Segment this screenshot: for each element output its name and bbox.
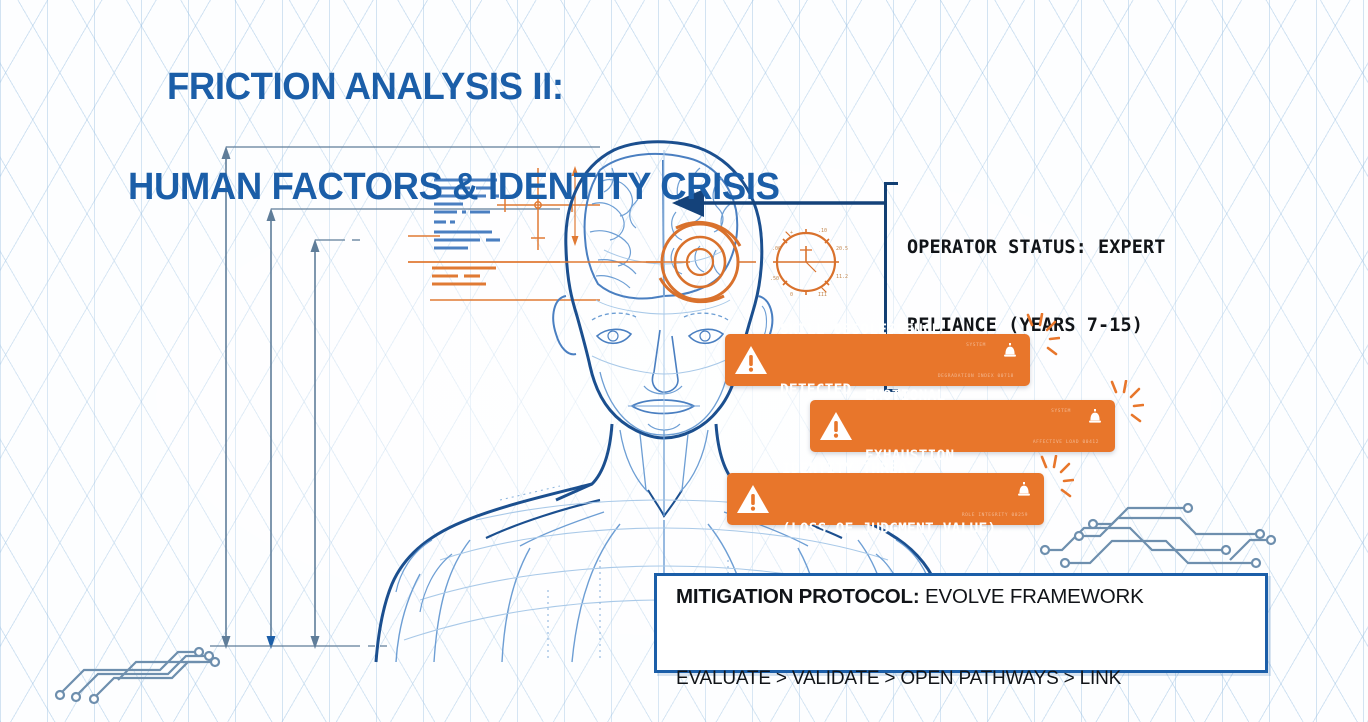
alert-microtext-bottom: AFFECTIVE LOAD 00412 (1033, 440, 1099, 445)
svg-text:20.5: 20.5 (836, 246, 848, 252)
alert-microtext-top: SYSTEM (966, 343, 986, 348)
mitigation-heading: MITIGATION PROTOCOL: EVOLVE FRAMEWORK (676, 585, 1265, 609)
title-line-1: FRICTION ANALYSIS II: (167, 66, 564, 108)
alert-spark-icon-3 (1028, 455, 1074, 507)
mitigation-protocol-box: MITIGATION PROTOCOL: EVOLVE FRAMEWORK EV… (654, 573, 1268, 673)
alert-line-1: EMOTIONAL (865, 386, 963, 406)
slide-canvas: +.10 20.511.2 .00.50 0III (0, 0, 1368, 722)
alert-spark-icon-1 (1014, 313, 1060, 365)
circuit-trace-left (56, 648, 219, 703)
alert-text: IDENTITY THREAT (LOSS OF JUDGMENT VALUE)… (782, 419, 1005, 579)
warning-triangle-icon (734, 344, 768, 376)
alert-banner-identity-threat[interactable]: IDENTITY THREAT (LOSS OF JUDGMENT VALUE)… (727, 473, 1044, 525)
circuit-trace-right (1041, 504, 1275, 567)
mitigation-label: MITIGATION PROTOCOL: (676, 585, 920, 608)
alert-microtext-bottom: ROLE INTEGRITY 00259 (962, 513, 1028, 518)
alert-spark-icon-2 (1098, 380, 1144, 432)
mitigation-steps-line-1: EVALUATE > VALIDATE > OPEN PATHWAYS > LI… (676, 666, 1265, 692)
svg-text:+: + (790, 230, 793, 236)
svg-text:.10: .10 (818, 228, 827, 234)
alert-line-1: SKILL OBSOLESCENCE (780, 320, 941, 340)
alert-line-2: (LOSS OF JUDGMENT VALUE). (782, 519, 1005, 539)
title-line-2: HUMAN FACTORS & IDENTITY CRISIS (128, 162, 780, 212)
mitigation-framework: EVOLVE FRAMEWORK (920, 585, 1144, 608)
operator-status-line-1: OPERATOR STATUS: EXPERT (907, 235, 1165, 261)
page-title: FRICTION ANALYSIS II: HUMAN FACTORS & ID… (128, 12, 780, 313)
warning-triangle-icon (736, 483, 770, 515)
alert-microtext-top: SYSTEM (1051, 409, 1071, 414)
mitigation-steps: EVALUATE > VALIDATE > OPEN PATHWAYS > LI… (676, 614, 1265, 722)
alert-line-1: IDENTITY THREAT (782, 459, 1005, 479)
